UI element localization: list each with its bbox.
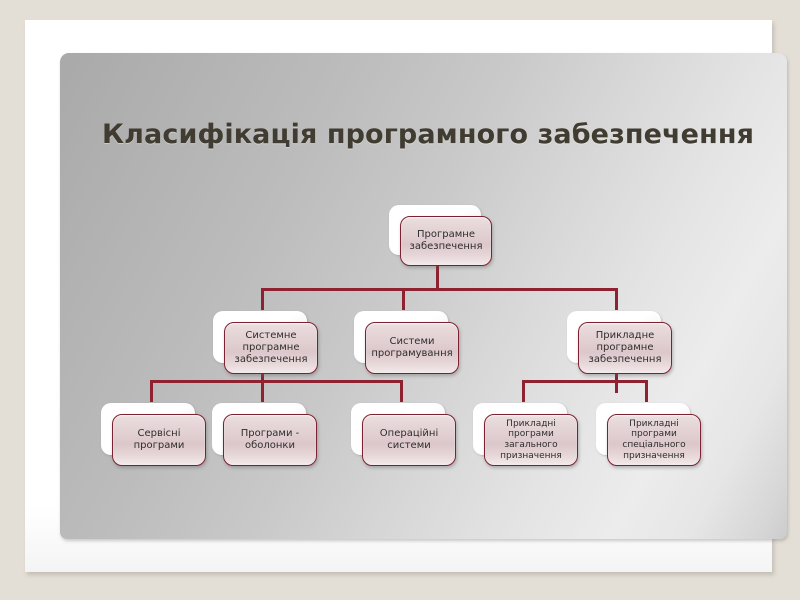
slide-card: Класифікація програмного забезпечення <box>25 20 772 572</box>
node-service-programs[interactable]: Сервісніпрограми <box>101 403 195 455</box>
connector-root-stem <box>436 264 439 290</box>
node-front-card: Системнепрограмнезабезпечення <box>224 322 318 374</box>
node-front-card: Прикладніпрограмизагальногопризначення <box>484 414 578 466</box>
node-front-card: Системипрограмування <box>365 322 459 374</box>
node-label: Сервісніпрограми <box>130 428 189 452</box>
node-application-sw[interactable]: Прикладнепрограмнезабезпечення <box>567 311 661 363</box>
node-front-card: Прикладнепрограмнезабезпечення <box>578 322 672 374</box>
node-label: Операційнісистеми <box>376 428 442 452</box>
node-root[interactable]: Програмнезабезпечення <box>389 205 481 255</box>
node-system-sw[interactable]: Системнепрограмнезабезпечення <box>213 311 307 363</box>
org-chart-diagram: Програмнезабезпечення Системнепрограмнез… <box>60 53 787 539</box>
node-label: Прикладніпрограмиспеціальногопризначення <box>618 419 689 461</box>
node-special-purpose-apps[interactable]: Прикладніпрограмиспеціальногопризначення <box>596 403 690 455</box>
connector-drop-application-sw <box>615 288 618 310</box>
node-programming-systems[interactable]: Системипрограмування <box>354 311 448 363</box>
node-label: Системипрограмування <box>367 336 456 360</box>
node-label: Програми -оболонки <box>237 428 304 452</box>
node-front-card: Програми -оболонки <box>223 414 317 466</box>
connector-drop-operating-systems <box>400 380 403 402</box>
node-front-card: Операційнісистеми <box>362 414 456 466</box>
connector-drop-general-purpose-apps <box>522 380 525 402</box>
connector-drop-service-programs <box>150 380 153 402</box>
node-front-card: Сервісніпрограми <box>112 414 206 466</box>
connector-drop-programming-systems <box>402 288 405 310</box>
slide-canvas: Класифікація програмного забезпечення <box>60 53 787 539</box>
node-front-card: Програмнезабезпечення <box>400 216 492 266</box>
node-label: Прикладніпрограмизагальногопризначення <box>496 419 566 461</box>
connector-left-branch-bus <box>150 380 403 383</box>
node-label: Програмнезабезпечення <box>406 229 487 253</box>
node-shell-programs[interactable]: Програми -оболонки <box>212 403 306 455</box>
node-label: Системнепрограмнезабезпечення <box>231 330 312 365</box>
connector-drop-system-sw <box>261 288 264 310</box>
node-operating-systems[interactable]: Операційнісистеми <box>351 403 445 455</box>
node-label: Прикладнепрограмнезабезпечення <box>585 330 666 365</box>
connector-level2-bus <box>261 288 618 291</box>
node-general-purpose-apps[interactable]: Прикладніпрограмизагальногопризначення <box>473 403 567 455</box>
connector-right-branch-bus <box>522 380 648 383</box>
connector-drop-shell-programs <box>261 380 264 402</box>
node-front-card: Прикладніпрограмиспеціальногопризначення <box>607 414 701 466</box>
connector-drop-special-purpose-apps <box>645 380 648 402</box>
